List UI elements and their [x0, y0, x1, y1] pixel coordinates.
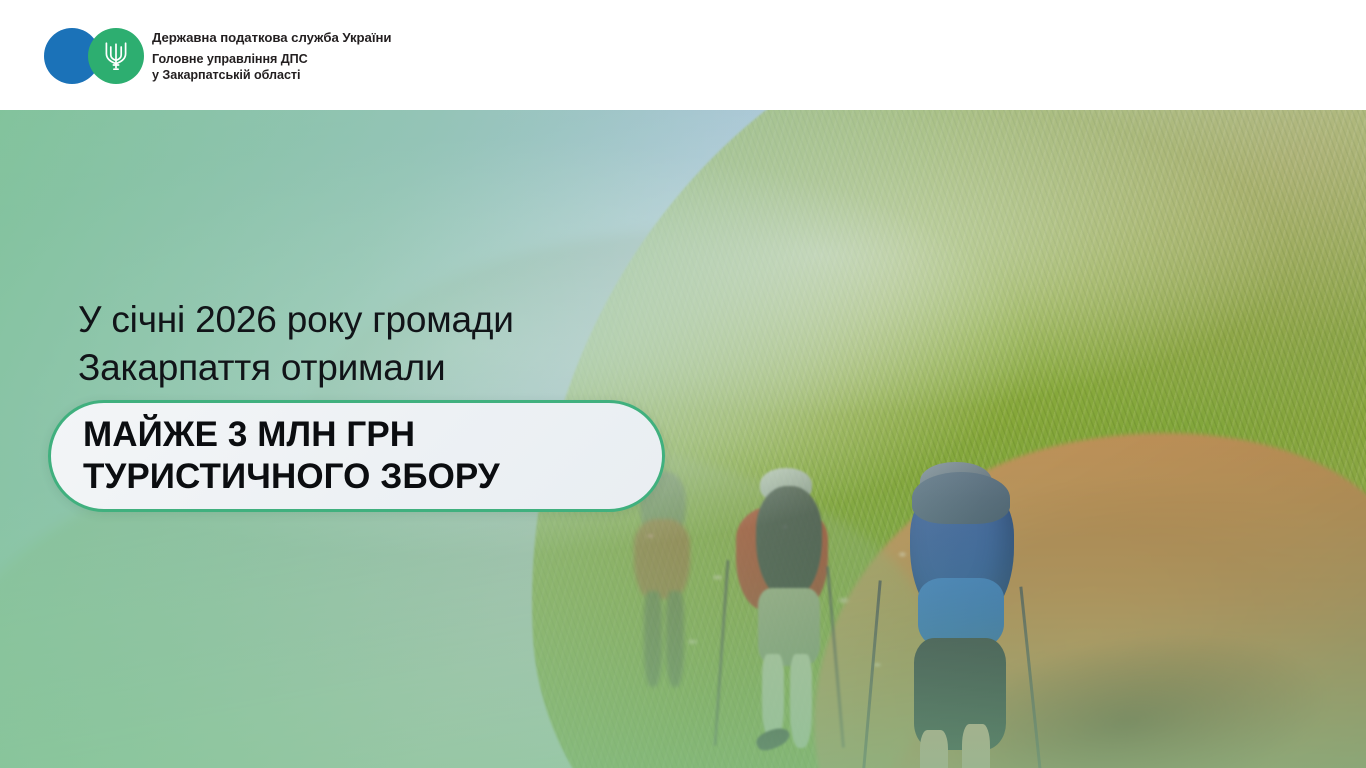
highlight-badge: МАЙЖЕ 3 МЛН ГРН ТУРИСТИЧНОГО ЗБОРУ [48, 400, 665, 512]
lede-text: У січні 2026 року громади Закарпаття отр… [78, 296, 718, 392]
trident-emblem-icon [103, 40, 129, 72]
poster-page: Державна податкова служба України Головн… [0, 0, 1366, 768]
logo-marks [44, 28, 144, 84]
poster-copy: У січні 2026 року громади Закарпаття отр… [0, 110, 1366, 768]
badge-line-2: ТУРИСТИЧНОГО ЗБОРУ [83, 456, 662, 498]
badge-line-1: МАЙЖЕ 3 МЛН ГРН [83, 414, 662, 456]
site-header: Державна податкова служба України Головн… [0, 0, 1366, 110]
hero-photo: У січні 2026 року громади Закарпаття отр… [0, 110, 1366, 768]
logo-text: Державна податкова служба України Головн… [152, 29, 391, 83]
logo-title-line2: Головне управління ДПС [152, 51, 391, 67]
organization-logo[interactable]: Державна податкова служба України Головн… [44, 28, 391, 84]
green-circle-icon [88, 28, 144, 84]
lede-line-1: У січні 2026 року громади [78, 296, 718, 344]
logo-title-line3: у Закарпатській області [152, 67, 391, 83]
lede-line-2: Закарпаття отримали [78, 344, 718, 392]
logo-title-line1: Державна податкова служба України [152, 29, 391, 47]
